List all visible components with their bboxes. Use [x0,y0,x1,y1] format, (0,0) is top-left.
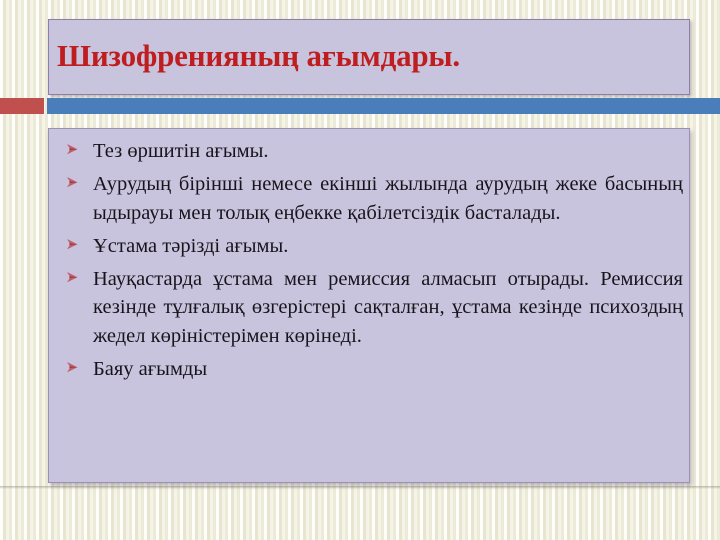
list-item-label: Науқастарда ұстама мен ремиссия алмасып … [93,265,683,350]
page-bottom-shadow [0,486,720,489]
list-item: Науқастарда ұстама мен ремиссия алмасып … [55,265,685,350]
slide-content-box: Тез өршитін ағымы. Аурудың бірінші немес… [48,128,690,483]
page-title: Шизофренияның ағымдары. [49,40,460,75]
presentation-slide: Шизофренияның ағымдары. Тез өршитін ағым… [0,0,720,540]
list-item-label: Ұстама тәрізді ағымы. [93,232,683,260]
divider-blue-bar [47,98,720,114]
decorative-divider [0,98,720,114]
list-item: Тез өршитін ағымы. [55,137,685,165]
arrow-bullet-icon [66,234,82,254]
arrow-bullet-icon [66,139,82,159]
arrow-bullet-icon [66,172,82,192]
divider-red-block [0,98,44,114]
arrow-bullet-icon [66,267,82,287]
list-item: Ұстама тәрізді ағымы. [55,232,685,260]
list-item-label: Тез өршитін ағымы. [93,137,683,165]
list-item-label: Баяу ағымды [93,355,683,383]
list-item: Аурудың бірінші немесе екінші жылында ау… [55,170,685,227]
slide-title-box: Шизофренияның ағымдары. [48,19,690,95]
list-item-label: Аурудың бірінші немесе екінші жылында ау… [93,170,683,227]
arrow-bullet-icon [66,357,82,377]
list-item: Баяу ағымды [55,355,685,383]
bullet-list: Тез өршитін ағымы. Аурудың бірінші немес… [55,137,685,383]
